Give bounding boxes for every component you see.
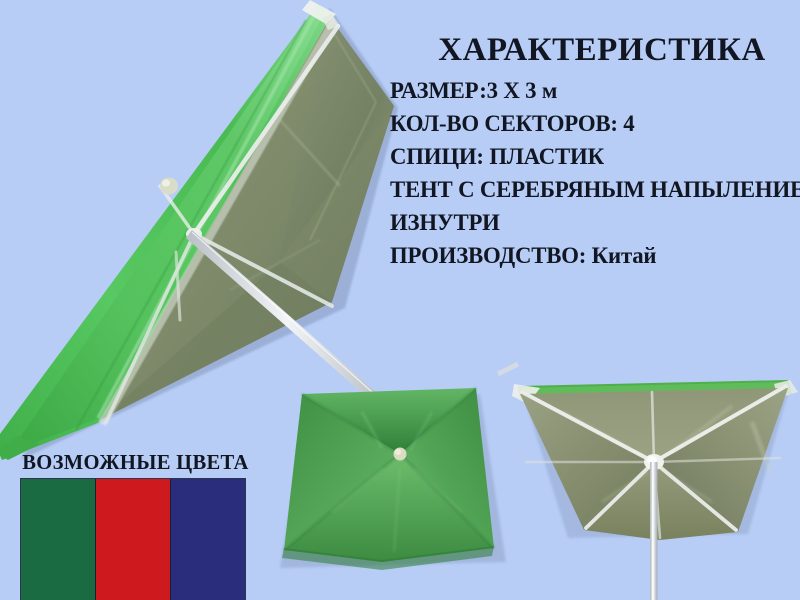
specifications-list: РАЗМЕР:3 Х 3 м КОЛ-ВО СЕКТОРОВ: 4 СПИЦИ:… (390, 75, 800, 273)
underside-pole (650, 462, 658, 600)
canopy-sectors (284, 388, 494, 562)
color-swatch-green (21, 479, 96, 600)
spec-line-sectors: КОЛ-ВО СЕКТОРОВ: 4 (390, 108, 790, 141)
spec-line-size: РАЗМЕР:3 Х 3 м (390, 75, 790, 108)
spec-line-origin: ПРОИЗВОДСТВО: Китай (390, 240, 790, 273)
available-colors-block: ВОЗМОЖНЫЕ ЦВЕТА (20, 450, 246, 600)
product-poster: ХАРАКТЕРИСТИКА РАЗМЕР:3 Х 3 м КОЛ-ВО СЕК… (0, 0, 800, 600)
spec-line-coating: ТЕНТ С СЕРЕБРЯНЫМ НАПЫЛЕНИЕМ (390, 174, 790, 207)
page-title: ХАРАКТЕРИСТИКА (390, 32, 800, 70)
photo-green-square-canopy (262, 372, 518, 600)
available-colors-label: ВОЗМОЖНЫЕ ЦВЕТА (22, 450, 243, 475)
spec-line-coating-cont: ИЗНУТРИ (390, 207, 790, 240)
canopy-hub (394, 448, 407, 461)
color-swatch-row (20, 478, 246, 600)
photo-silver-underside (502, 362, 800, 600)
spec-line-ribs: СПИЦИ: ПЛАСТИК (390, 141, 790, 174)
color-swatch-blue (171, 479, 245, 600)
umbrella-knob (160, 178, 178, 195)
specifications-panel: ХАРАКТЕРИСТИКА РАЗМЕР:3 Х 3 м КОЛ-ВО СЕК… (390, 32, 800, 273)
color-swatch-red (96, 479, 171, 600)
